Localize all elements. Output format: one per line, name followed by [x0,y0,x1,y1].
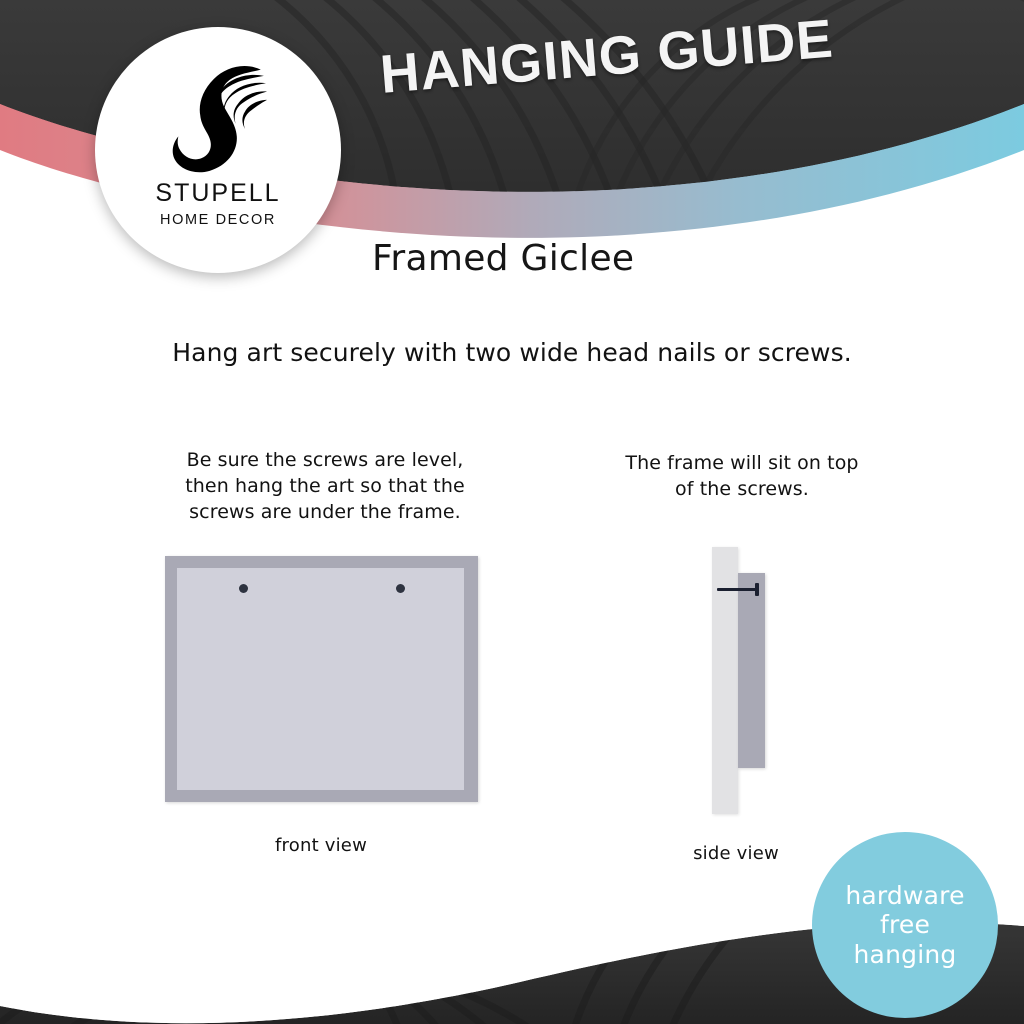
front-view-label: front view [191,835,451,856]
front-view-caption: Be sure the screws are level, then hang … [160,447,490,526]
caption-line: of the screws. [598,476,886,502]
stupell-swan-icon [154,55,282,175]
screw-shaft-icon [717,588,758,591]
hanging-guide-page: STUPELL HOME DECOR HANGING GUIDE Framed … [0,0,1024,1024]
front-view-diagram [165,556,478,802]
caption-line: screws are under the frame. [160,499,490,525]
logo-tagline: HOME DECOR [160,212,276,228]
screw-dot-right-icon [396,584,405,593]
brand-logo-badge: STUPELL HOME DECOR [95,27,341,273]
main-instruction-text: Hang art securely with two wide head nai… [0,338,1024,367]
hardware-free-hanging-badge: hardware free hanging [812,832,998,1018]
side-view-label: side view [636,843,836,864]
screw-dot-left-icon [239,584,248,593]
side-view-caption: The frame will sit on top of the screws. [598,450,886,502]
caption-line: Be sure the screws are level, [160,447,490,473]
badge-line: free [880,910,930,940]
badge-line: hardware [845,881,964,911]
badge-line: hanging [854,940,957,970]
logo-wordmark: STUPELL [155,179,280,208]
picture-frame-mat [177,568,464,790]
frame-cross-section [738,573,765,768]
product-type-title: Framed Giclee [372,238,634,279]
side-view-diagram [706,545,786,817]
caption-line: The frame will sit on top [598,450,886,476]
screw-head-icon [755,583,759,596]
caption-line: then hang the art so that the [160,473,490,499]
page-title: HANGING GUIDE [378,8,836,106]
